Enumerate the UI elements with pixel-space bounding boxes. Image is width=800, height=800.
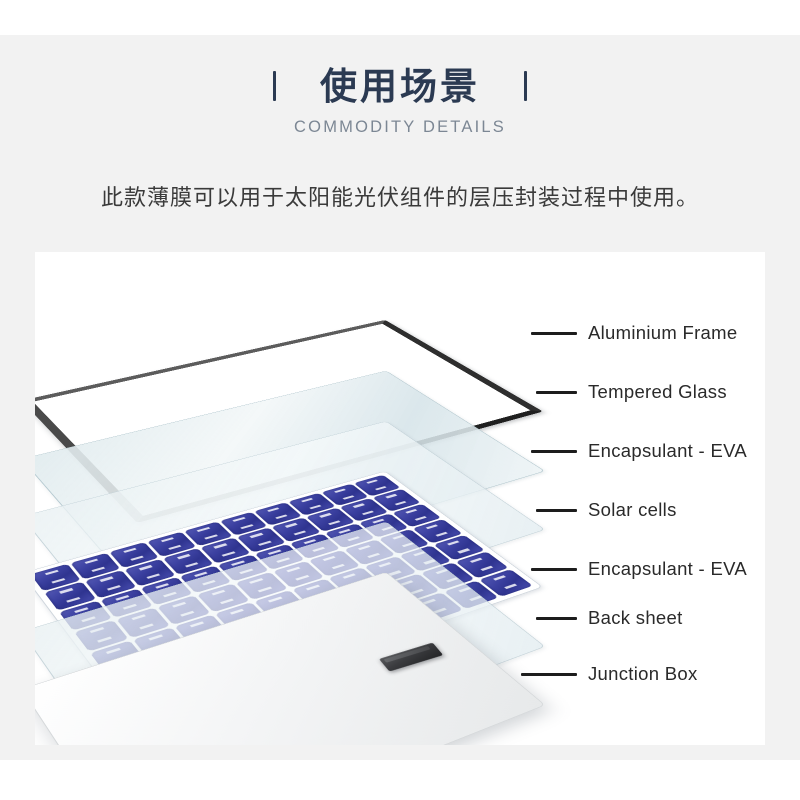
callout-label: Back sheet — [588, 609, 683, 628]
callout-back-sheet: Back sheet — [536, 609, 683, 628]
leader-line-icon — [521, 673, 577, 676]
page-subtitle: COMMODITY DETAILS — [0, 118, 800, 137]
page-title: 使用场景 — [320, 68, 480, 105]
callout-label: Aluminium Frame — [588, 324, 737, 343]
callout-label: Tempered Glass — [588, 383, 727, 402]
title-separator-left-icon — [273, 71, 276, 101]
callout-solar-cells: Solar cells — [536, 501, 677, 520]
callout-label: Solar cells — [588, 501, 677, 520]
leader-line-icon — [536, 391, 577, 394]
callout-encapsulant-eva-top: Encapsulant - EVA — [531, 442, 747, 461]
description-text: 此款薄膜可以用于太阳能光伏组件的层压封装过程中使用。 — [0, 180, 800, 212]
callout-encapsulant-eva-bottom: Encapsulant - EVA — [531, 560, 747, 579]
leader-line-icon — [531, 568, 577, 571]
callout-label: Encapsulant - EVA — [588, 442, 747, 461]
callout-junction-box: Junction Box — [521, 665, 698, 684]
leader-line-icon — [531, 332, 577, 335]
leader-line-icon — [531, 450, 577, 453]
solar-panel-exploded-diagram: Aluminium Frame Tempered Glass Encapsula… — [35, 252, 765, 745]
product-detail-page: 使用场景 COMMODITY DETAILS 此款薄膜可以用于太阳能光伏组件的层… — [0, 0, 800, 800]
title-row: 使用场景 — [0, 60, 800, 112]
title-separator-right-icon — [524, 71, 527, 101]
callout-tempered-glass: Tempered Glass — [536, 383, 727, 402]
section-header: 使用场景 COMMODITY DETAILS — [0, 50, 800, 160]
leader-line-icon — [536, 509, 577, 512]
leader-line-icon — [536, 617, 577, 620]
callout-aluminium-frame: Aluminium Frame — [531, 324, 737, 343]
callout-label-group: Aluminium Frame Tempered Glass Encapsula… — [35, 252, 765, 745]
callout-label: Junction Box — [588, 665, 698, 684]
callout-label: Encapsulant - EVA — [588, 560, 747, 579]
